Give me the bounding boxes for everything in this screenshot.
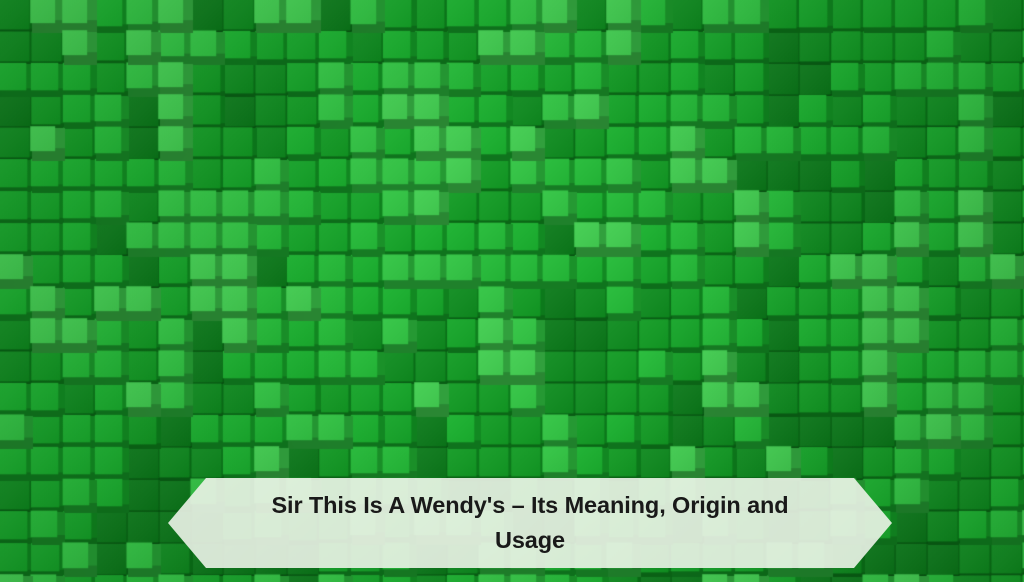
title-banner: Sir This Is A Wendy's – Its Meaning, Ori… xyxy=(168,478,892,568)
banner-title-text: Sir This Is A Wendy's – Its Meaning, Ori… xyxy=(240,488,820,558)
screenshot-canvas: Sir This Is A Wendy's – Its Meaning, Ori… xyxy=(0,0,1024,582)
